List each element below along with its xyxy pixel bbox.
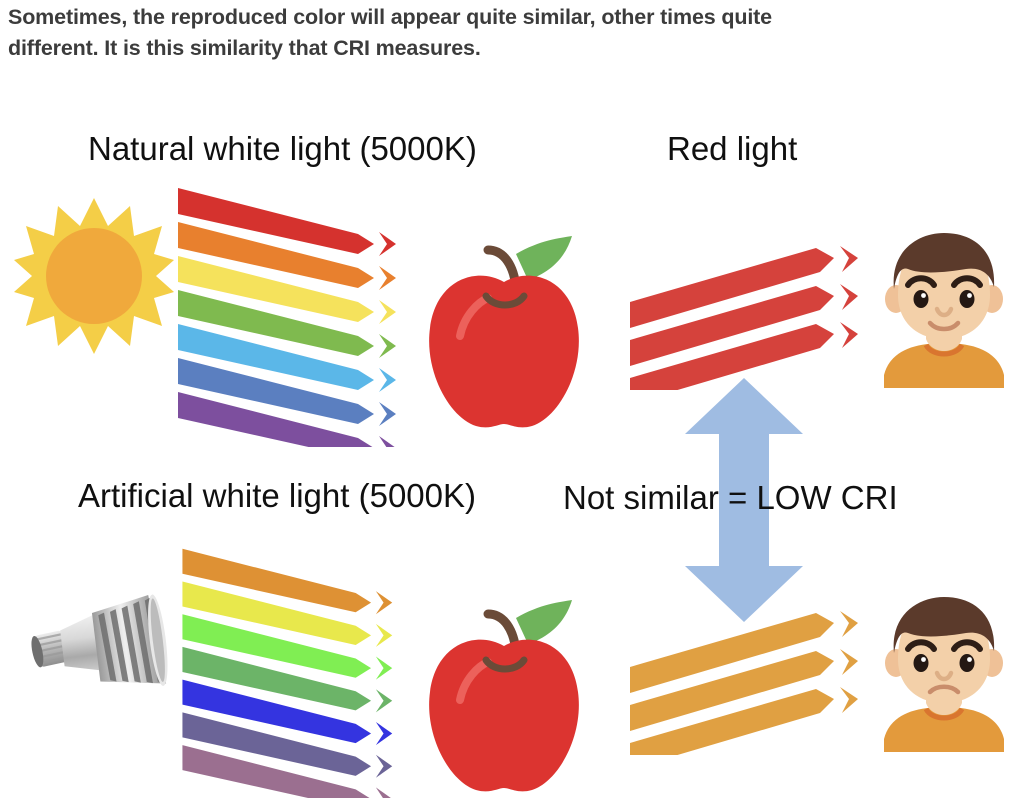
- eye-right: [960, 654, 975, 672]
- eye-glint-left: [921, 657, 926, 662]
- reflected-ray-group: [630, 246, 858, 390]
- red-reflected-rays: [628, 240, 873, 390]
- label-natural-white-light: Natural white light (5000K): [88, 132, 477, 165]
- sun-icon: [14, 196, 174, 356]
- led-spotlight-bulb-icon: [22, 592, 172, 712]
- spectrum-ray-group: [178, 188, 396, 447]
- reflected-ray-group: [630, 611, 858, 755]
- frowning-boy-face-icon: [874, 597, 1014, 752]
- red-apple-icon: [420, 232, 588, 432]
- intro-line-2: different. It is this similarity that CR…: [8, 33, 1008, 64]
- eye-glint-right: [967, 657, 972, 662]
- label-not-similar-low-cri: Not similar = LOW CRI: [563, 481, 898, 514]
- eye-glint-left: [921, 293, 926, 298]
- natural-white-spectrum-rays: [176, 182, 416, 447]
- spectrum-ray-group: [182, 549, 392, 798]
- intro-line-1: Sometimes, the reproduced color will app…: [8, 2, 1008, 33]
- red-apple-icon: [420, 596, 588, 796]
- smiling-boy-face-icon: [874, 233, 1014, 388]
- apple-leaf: [516, 600, 572, 644]
- eye-left: [914, 654, 929, 672]
- label-artificial-white-light: Artificial white light (5000K): [78, 479, 476, 512]
- artificial-white-spectrum-rays: [176, 543, 416, 798]
- amber-reflected-rays: [628, 605, 873, 755]
- apple-body: [429, 640, 579, 792]
- eye-right: [960, 290, 975, 308]
- diagram-canvas: Sometimes, the reproduced color will app…: [0, 0, 1018, 800]
- label-red-light: Red light: [667, 132, 797, 165]
- eye-glint-right: [967, 293, 972, 298]
- intro-paragraph: Sometimes, the reproduced color will app…: [8, 2, 1008, 64]
- apple-body: [429, 276, 579, 428]
- apple-leaf: [516, 236, 572, 280]
- eye-left: [914, 290, 929, 308]
